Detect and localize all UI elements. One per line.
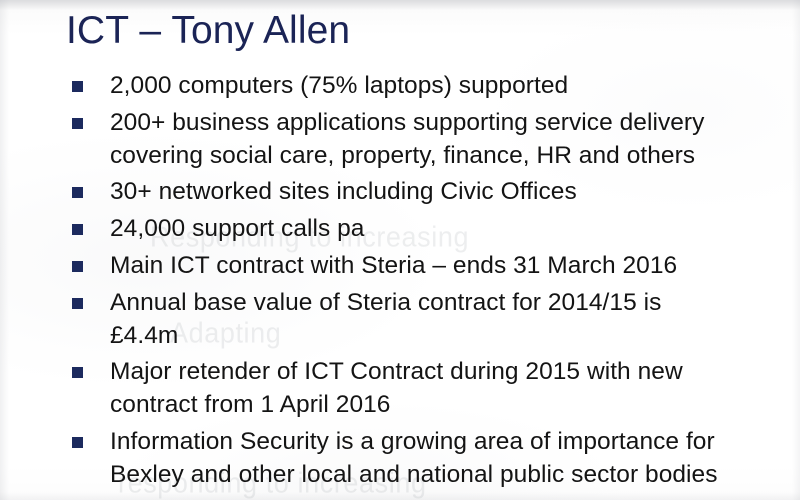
bullet-item: 200+ business applications supporting se… <box>66 107 766 173</box>
bullet-item: Information Security is a growing area o… <box>66 426 766 492</box>
bullet-square-icon <box>72 81 83 92</box>
bullet-square-icon <box>72 261 83 272</box>
bullet-text: Annual base value of Steria contract for… <box>110 287 766 353</box>
bullet-text: 200+ business applications supporting se… <box>110 107 766 173</box>
bullet-text: Major retender of ICT Contract during 20… <box>110 356 766 422</box>
bullet-item: 2,000 computers (75% laptops) supported <box>66 70 766 103</box>
bullet-square-icon <box>72 367 83 378</box>
bullet-item: Main ICT contract with Steria – ends 31 … <box>66 250 766 283</box>
bullet-item: Annual base value of Steria contract for… <box>66 287 766 353</box>
bullet-text: 24,000 support calls pa <box>110 213 766 246</box>
bullet-item: 30+ networked sites including Civic Offi… <box>66 176 766 209</box>
bullet-list: 2,000 computers (75% laptops) supported2… <box>66 70 766 496</box>
bullet-item: Major retender of ICT Contract during 20… <box>66 356 766 422</box>
bullet-square-icon <box>72 118 83 129</box>
slide-title: ICT – Tony Allen <box>66 8 350 54</box>
bullet-item: 24,000 support calls pa <box>66 213 766 246</box>
bullet-text: Main ICT contract with Steria – ends 31 … <box>110 250 766 283</box>
scan-edge-left <box>0 0 9 500</box>
scanned-slide: Responding to increasingAdaptingrespondi… <box>0 0 800 500</box>
bullet-square-icon <box>72 437 83 448</box>
bullet-square-icon <box>72 224 83 235</box>
bullet-text: 2,000 computers (75% laptops) supported <box>110 70 766 103</box>
bullet-square-icon <box>72 187 83 198</box>
scan-edge-right <box>792 0 800 500</box>
bullet-text: 30+ networked sites including Civic Offi… <box>110 176 766 209</box>
bullet-text: Information Security is a growing area o… <box>110 426 766 492</box>
bullet-square-icon <box>72 298 83 309</box>
